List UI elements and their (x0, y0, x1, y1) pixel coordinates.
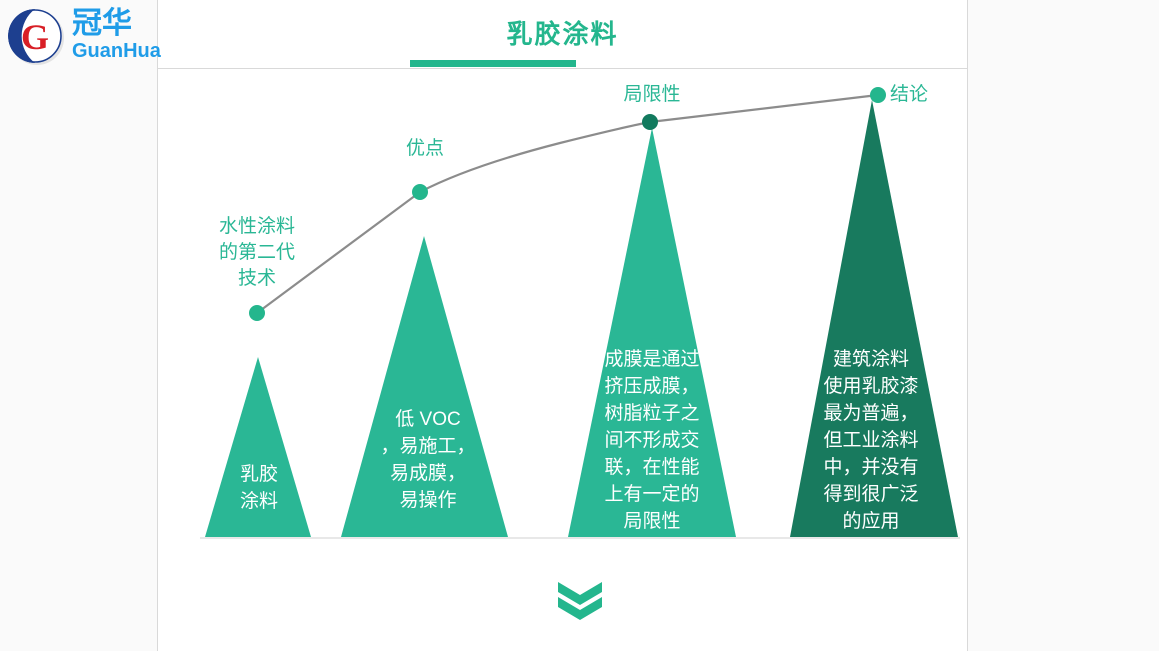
node-label-3: 局限性 (592, 82, 712, 108)
triangle-label-1: 乳胶 涂料 (214, 461, 304, 515)
trend-line (257, 95, 878, 313)
data-point-4[interactable] (870, 87, 886, 103)
triangle-label-4: 建筑涂料 使用乳胶漆 最为普遍， 但工业涂料 中，并没有 得到很广泛 的应用 (806, 346, 936, 535)
triangle-label-3: 成膜是通过 挤压成膜， 树脂粒子之 间不形成交 联，在性能 上有一定的 局限性 (582, 346, 722, 535)
data-point-1[interactable] (249, 305, 265, 321)
slide-canvas: G 冠华 GuanHua 乳胶涂料 水性涂料 的第二代 技术 优点 局限性 结论… (0, 0, 1159, 651)
data-point-2[interactable] (412, 184, 428, 200)
data-point-3[interactable] (642, 114, 658, 130)
node-label-4: 结论 (890, 82, 1000, 108)
double-chevron-down-icon[interactable] (558, 582, 602, 620)
node-label-2: 优点 (365, 136, 485, 162)
triangle-label-2: 低 VOC ，易施工， 易成膜， 易操作 (368, 406, 488, 514)
node-label-1: 水性涂料 的第二代 技术 (192, 214, 322, 292)
